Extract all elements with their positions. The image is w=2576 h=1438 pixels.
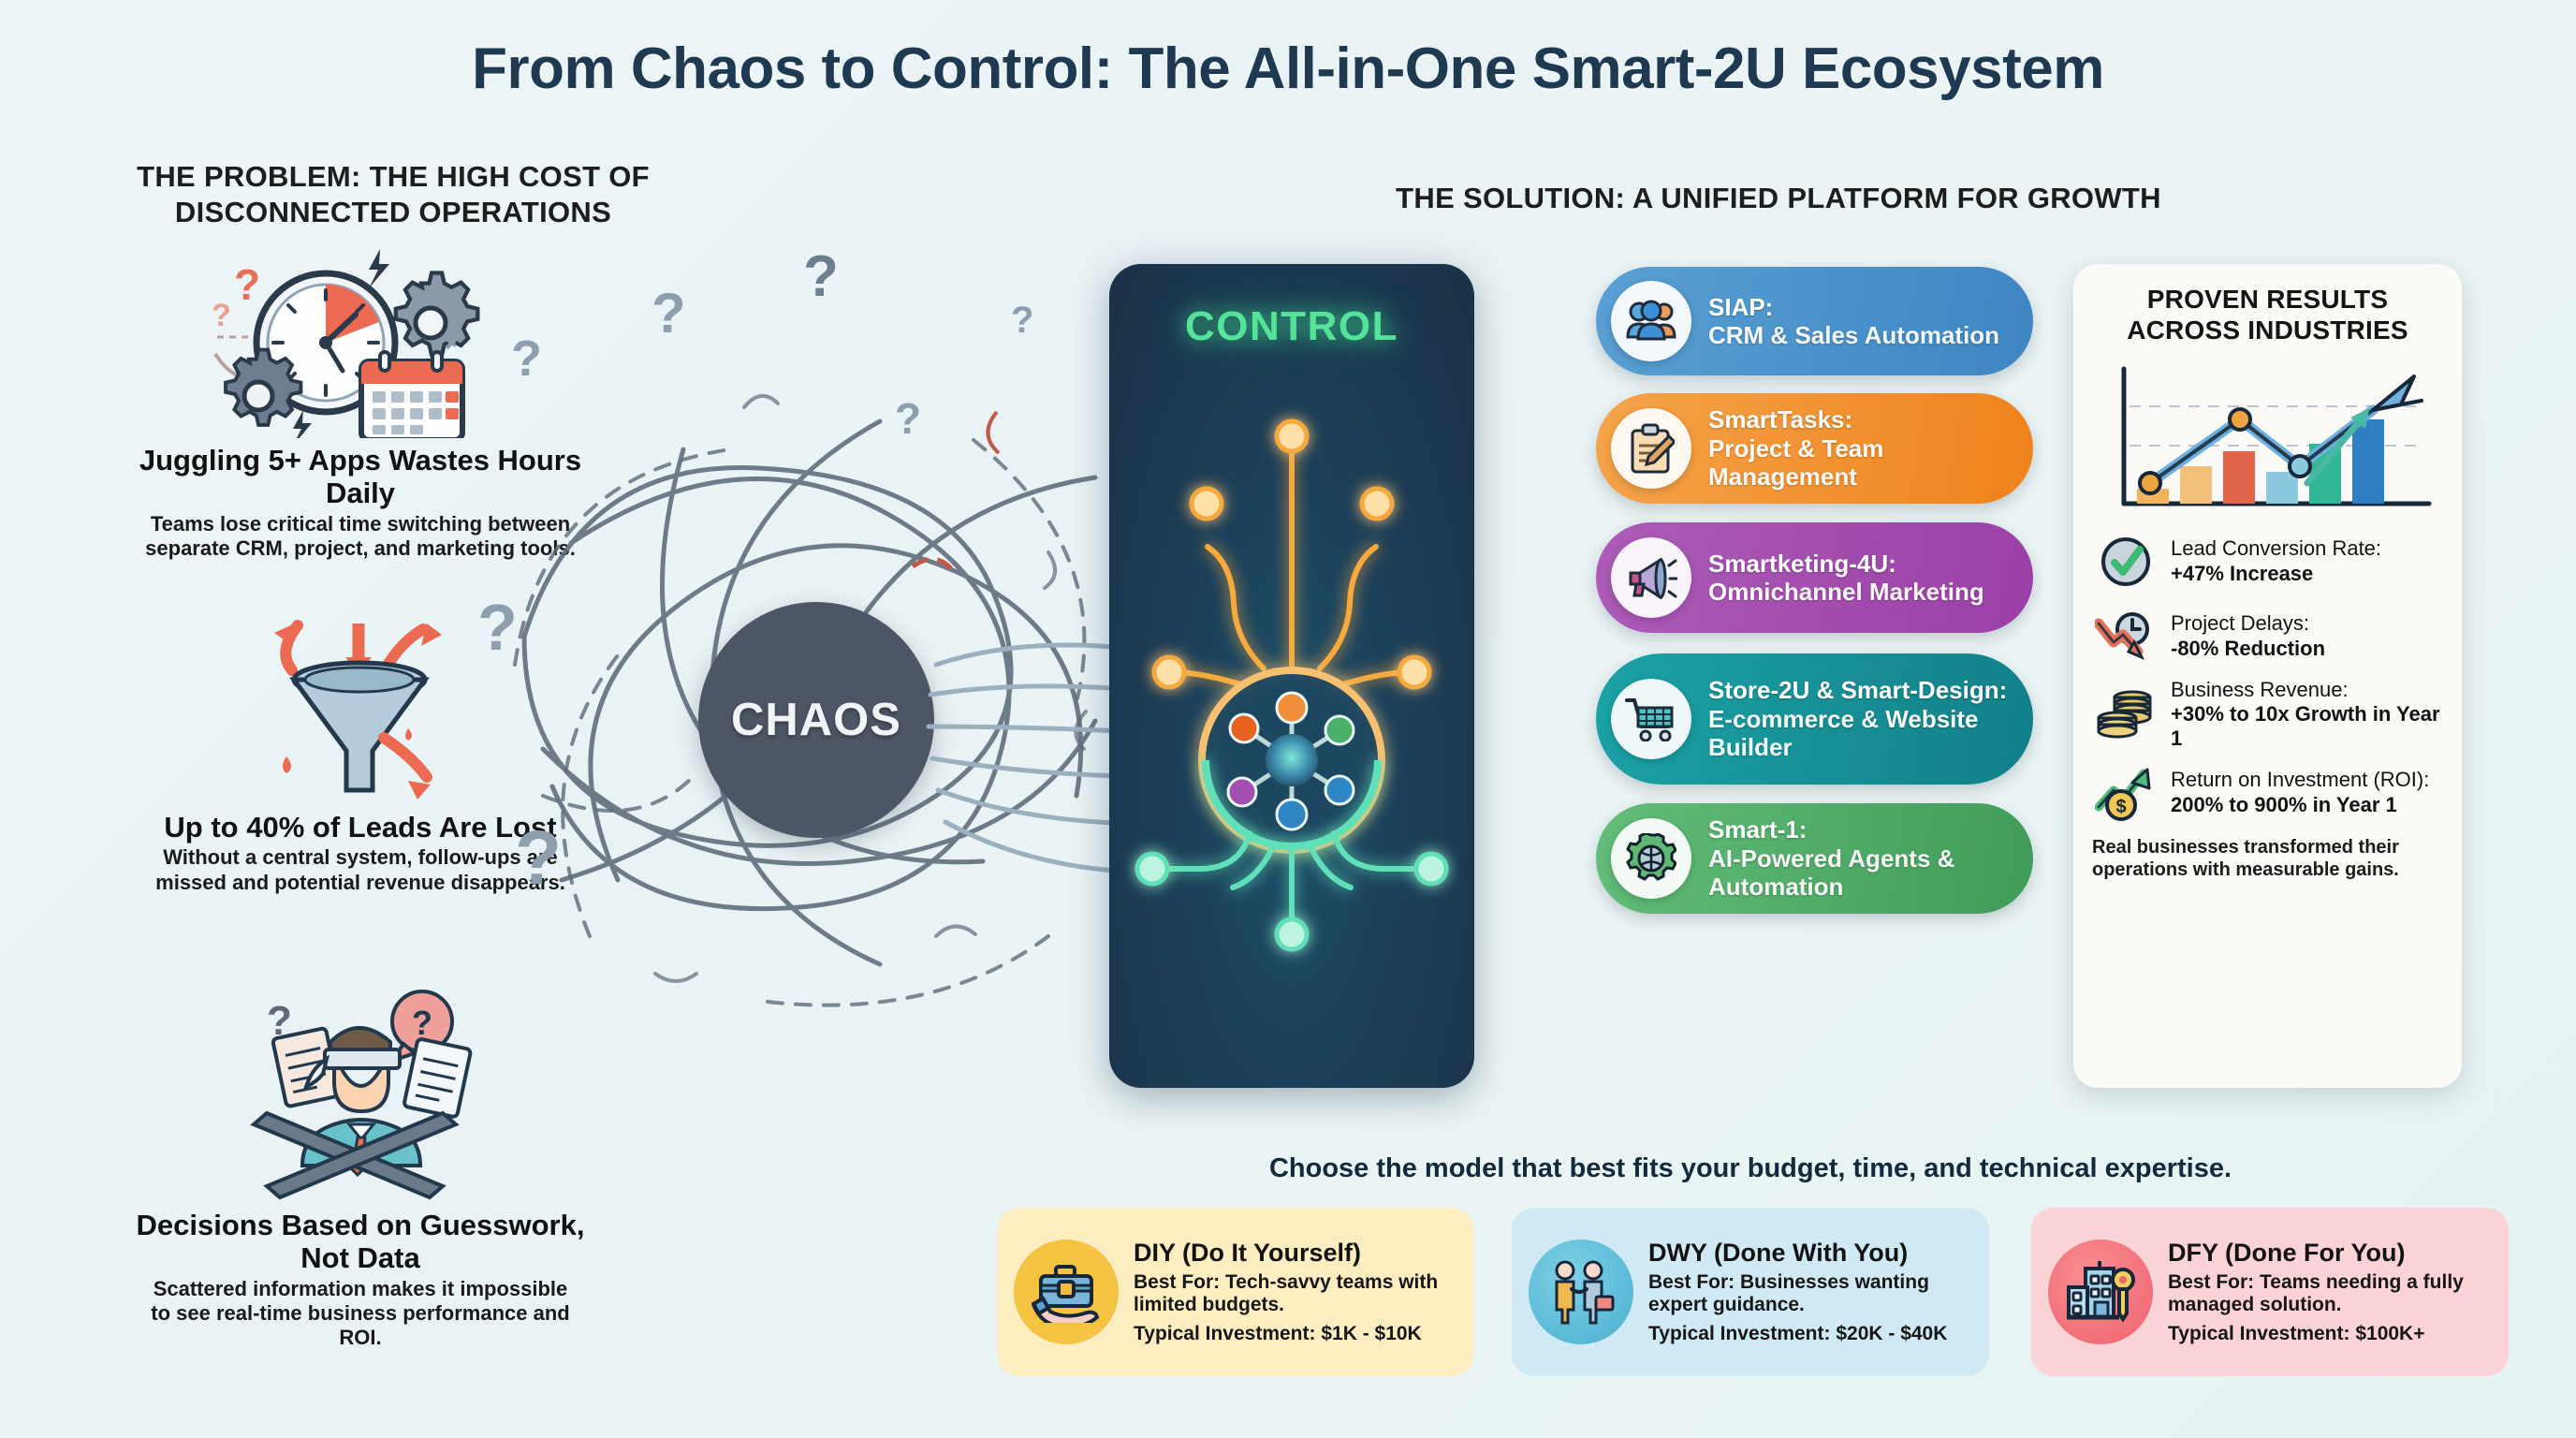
result-item-3-value: +30% to 10x Growth in Year 1 — [2171, 702, 2440, 750]
control-network-graphic — [1109, 264, 1474, 1088]
result-item-1: Lead Conversion Rate: +47% Increase — [2092, 528, 2443, 595]
solution-pill-smart1-name: Smart-1: — [1708, 815, 2009, 844]
models-caption: Choose the model that best fits your bud… — [992, 1153, 2509, 1184]
solution-pill-smartketing[interactable]: Smartketing-4U: Omnichannel Marketing — [1596, 522, 2033, 633]
results-card-title: PROVEN RESULTS ACROSS INDUSTRIES — [2092, 285, 2443, 346]
model-card-dwy-investment: Typical Investment: $20K - $40K — [1648, 1323, 1972, 1346]
solution-pill-store2u-name: Store-2U & Smart-Design: — [1708, 676, 2009, 704]
model-card-diy-investment: Typical Investment: $1K - $10K — [1134, 1323, 1457, 1346]
solution-pill-siap-name: SIAP: — [1708, 293, 1999, 321]
result-item-1-text: Lead Conversion Rate: +47% Increase — [2171, 536, 2381, 586]
solution-pill-smart1-text: Smart-1: AI-Powered Agents & Automation — [1708, 815, 2009, 901]
result-item-1-value: +47% Increase — [2171, 562, 2313, 585]
result-item-4-text: Return on Investment (ROI): 200% to 900%… — [2171, 768, 2443, 817]
result-item-4-label: Return on Investment (ROI): — [2171, 768, 2429, 791]
chaos-circle: CHAOS — [698, 602, 934, 838]
page-title: From Chaos to Control: The All-in-One Sm… — [0, 36, 2576, 102]
solution-pill-siap[interactable]: SIAP: CRM & Sales Automation — [1596, 267, 2033, 375]
model-card-dwy-bestfor: Best For: Businesses wanting expert guid… — [1648, 1271, 1972, 1317]
model-card-diy-text: DIY (Do It Yourself) Best For: Tech-savv… — [1134, 1239, 1457, 1346]
handshake-icon — [1529, 1240, 1633, 1344]
building-key-icon — [2048, 1240, 2153, 1344]
solution-pill-smarttasks-name: SmartTasks: — [1708, 405, 2009, 433]
solution-pill-siap-desc: CRM & Sales Automation — [1708, 321, 1999, 349]
svg-text:?: ? — [234, 260, 260, 309]
control-label: CONTROL — [1109, 303, 1474, 350]
solution-pill-smartketing-text: Smartketing-4U: Omnichannel Marketing — [1708, 550, 1984, 607]
model-card-diy-bestfor: Best For: Tech-savvy teams with limited … — [1134, 1271, 1457, 1317]
model-card-dwy-title: DWY (Done With You) — [1648, 1239, 1972, 1268]
result-item-1-label: Lead Conversion Rate: — [2171, 536, 2381, 560]
down-arrow-clock-icon — [2092, 603, 2159, 670]
solution-pill-smarttasks[interactable]: SmartTasks: Project & Team Management — [1596, 393, 2033, 504]
people-group-icon — [1611, 281, 1691, 361]
toolbox-hand-icon — [1014, 1240, 1119, 1344]
result-item-2-label: Project Delays: — [2171, 611, 2309, 635]
solution-pill-smart1[interactable]: Smart-1: AI-Powered Agents & Automation — [1596, 803, 2033, 914]
model-card-dfy-text: DFY (Done For You) Best For: Teams needi… — [2168, 1239, 2492, 1346]
model-card-dfy-investment: Typical Investment: $100K+ — [2168, 1323, 2492, 1346]
solution-pill-siap-text: SIAP: CRM & Sales Automation — [1708, 293, 1999, 350]
check-circle-icon — [2092, 528, 2159, 595]
growth-dollar-icon: $ — [2092, 759, 2159, 827]
results-card: PROVEN RESULTS ACROSS INDUSTRIES — [2073, 264, 2462, 1088]
coin-stack-icon — [2092, 681, 2159, 748]
svg-text:$: $ — [2115, 797, 2126, 817]
chaos-label: CHAOS — [731, 694, 901, 746]
solution-pill-store2u[interactable]: Store-2U & Smart-Design: E-commerce & We… — [1596, 653, 2033, 785]
result-item-2-text: Project Delays: -80% Reduction — [2171, 611, 2325, 661]
model-card-dwy[interactable]: DWY (Done With You) Best For: Businesses… — [1512, 1208, 1989, 1376]
result-item-4: $ Return on Investment (ROI): 200% to 90… — [2092, 759, 2443, 827]
result-item-3-label: Business Revenue: — [2171, 678, 2349, 701]
solution-pill-smartketing-name: Smartketing-4U: — [1708, 550, 1984, 578]
gear-ai-icon — [1611, 818, 1691, 899]
problem-item-3-body: Scattered information makes it impossibl… — [117, 1277, 604, 1351]
problem-item-3-title: Decisions Based on Guesswork, Not Data — [117, 1209, 604, 1275]
model-card-dfy[interactable]: DFY (Done For You) Best For: Teams needi… — [2031, 1208, 2509, 1376]
model-card-diy[interactable]: DIY (Do It Yourself) Best For: Tech-savv… — [997, 1208, 1474, 1376]
clipboard-pencil-icon — [1611, 408, 1691, 489]
megaphone-icon — [1611, 537, 1691, 618]
solution-pill-store2u-text: Store-2U & Smart-Design: E-commerce & We… — [1708, 676, 2009, 761]
result-item-3-text: Business Revenue: +30% to 10x Growth in … — [2171, 678, 2443, 752]
infographic-root: From Chaos to Control: The All-in-One Sm… — [0, 0, 2576, 1438]
solution-pill-store2u-desc: E-commerce & Website Builder — [1708, 705, 2009, 762]
svg-text:?: ? — [412, 1004, 432, 1042]
control-panel: CONTROL — [1109, 264, 1474, 1088]
model-card-dwy-text: DWY (Done With You) Best For: Businesses… — [1648, 1239, 1972, 1346]
solution-pill-smart1-desc: AI-Powered Agents & Automation — [1708, 844, 2009, 902]
result-item-2-value: -80% Reduction — [2171, 637, 2325, 660]
model-card-dfy-bestfor: Best For: Teams needing a fully managed … — [2168, 1271, 2492, 1317]
problem-section-heading: THE PROBLEM: THE HIGH COST OF DISCONNECT… — [122, 159, 665, 230]
results-card-footnote: Real businesses transformed their operat… — [2092, 836, 2443, 881]
shopping-cart-icon — [1611, 679, 1691, 759]
solution-pill-smarttasks-text: SmartTasks: Project & Team Management — [1708, 405, 2009, 491]
model-card-diy-title: DIY (Do It Yourself) — [1134, 1239, 1457, 1268]
model-card-dfy-title: DFY (Done For You) — [2168, 1239, 2492, 1268]
solution-section-heading: THE SOLUTION: A UNIFIED PLATFORM FOR GRO… — [1357, 181, 2200, 216]
result-item-4-value: 200% to 900% in Year 1 — [2171, 793, 2397, 816]
solution-pill-smartketing-desc: Omnichannel Marketing — [1708, 578, 1984, 606]
results-bar-chart — [2092, 352, 2443, 521]
result-item-3: Business Revenue: +30% to 10x Growth in … — [2092, 678, 2443, 752]
result-item-2: Project Delays: -80% Reduction — [2092, 603, 2443, 670]
svg-text:?: ? — [212, 298, 231, 333]
solution-pill-smarttasks-desc: Project & Team Management — [1708, 434, 2009, 492]
